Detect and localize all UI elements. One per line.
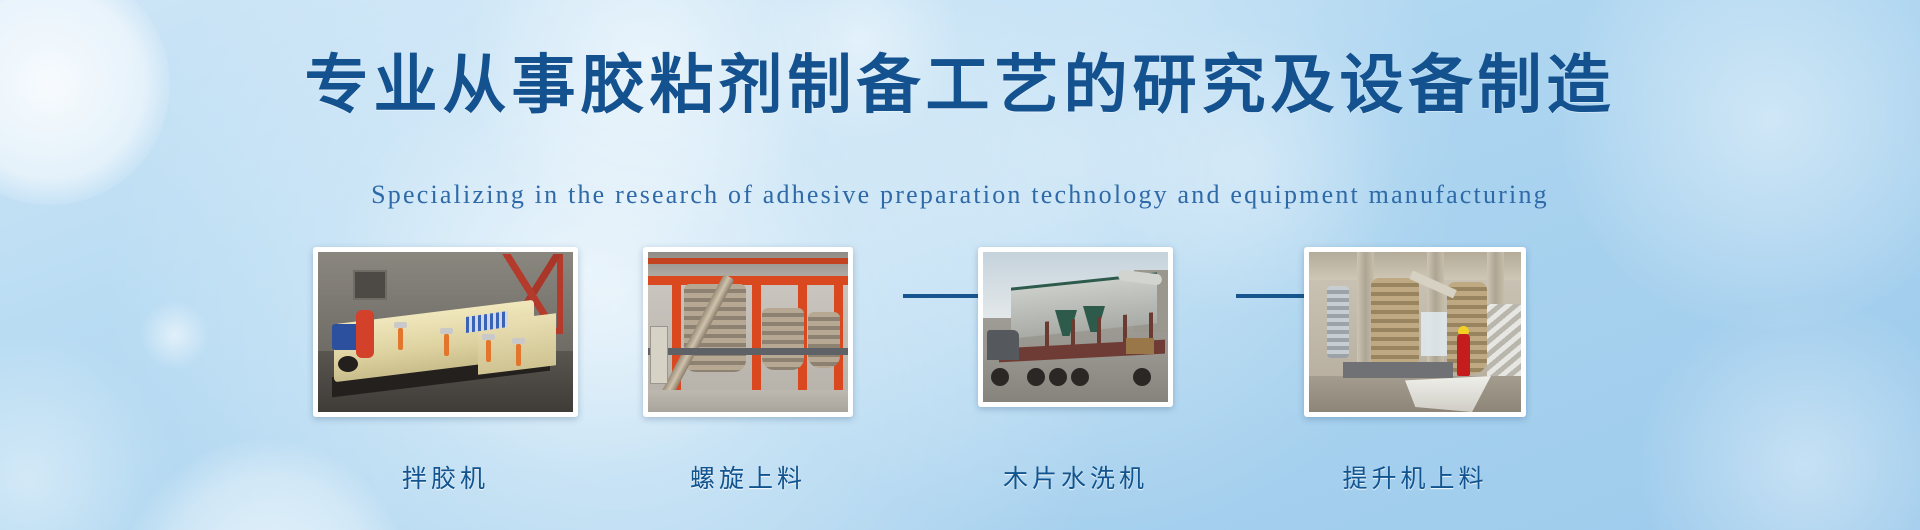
product-card-2[interactable]: 螺旋上料 (643, 247, 853, 417)
product-caption-3: 木片水洗机 (978, 459, 1173, 495)
product-caption-2: 螺旋上料 (643, 459, 853, 495)
banner-subheadline: Specializing in the research of adhesive… (0, 180, 1920, 210)
banner-headline: 专业从事胶粘剂制备工艺的研究及设备制造 (0, 54, 1920, 118)
product-card-3[interactable]: 木片水洗机 (978, 247, 1173, 407)
wood-chip-washing-machine-photo (983, 252, 1168, 402)
photo-frame (643, 247, 853, 417)
product-photo-strip: 拌胶机 螺旋上料 (0, 247, 1920, 447)
screw-conveyor-feeding-photo (648, 252, 848, 412)
photo-frame (1304, 247, 1526, 417)
connector-line-2-3 (1236, 294, 1304, 298)
product-caption-1: 拌胶机 (313, 459, 578, 495)
product-card-1[interactable]: 拌胶机 (313, 247, 578, 417)
product-caption-4: 提升机上料 (1304, 459, 1526, 495)
connector-line-1-2 (903, 294, 978, 298)
elevator-feeding-plant-photo (1309, 252, 1521, 412)
promotional-banner: 专业从事胶粘剂制备工艺的研究及设备制造 Specializing in the … (0, 0, 1920, 530)
photo-frame (978, 247, 1173, 407)
photo-frame (313, 247, 578, 417)
glue-mixer-machine-photo (318, 252, 573, 412)
product-card-4[interactable]: 提升机上料 (1304, 247, 1526, 417)
